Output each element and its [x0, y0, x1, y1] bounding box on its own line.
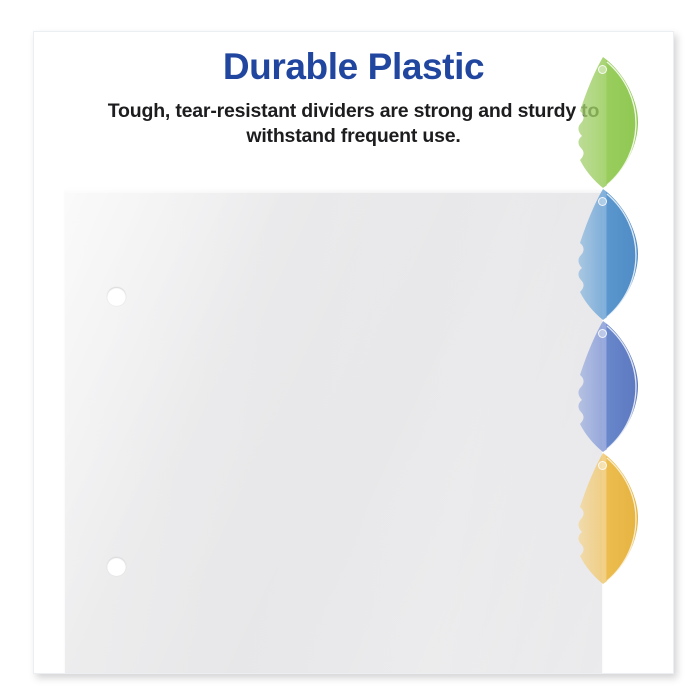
- divider-sheet: [65, 188, 602, 673]
- blue-tab[interactable]: [566, 188, 640, 321]
- top-punch-hole: [107, 287, 126, 306]
- bottom-punch-hole: [107, 557, 126, 576]
- gold-tab-hole: [598, 461, 607, 470]
- gold-tab-shape: [566, 452, 640, 585]
- sheet-gloss-highlight: [65, 188, 602, 673]
- navy-tab-shape: [566, 320, 640, 453]
- gold-tab[interactable]: [566, 452, 640, 585]
- screenshot-stage: Durable Plastic Tough, tear-resistant di…: [0, 0, 700, 700]
- subtitle-text: Tough, tear-resistant dividers are stron…: [66, 99, 641, 151]
- navy-tab[interactable]: [566, 320, 640, 453]
- navy-tab-hole: [598, 329, 607, 338]
- sheet-top-edge: [65, 188, 602, 193]
- blue-tab-hole: [598, 197, 607, 206]
- green-tab[interactable]: [566, 56, 640, 189]
- blue-tab-shape: [566, 188, 640, 321]
- green-tab-hole: [598, 65, 607, 74]
- green-tab-shape: [566, 56, 640, 189]
- product-image-card: Durable Plastic Tough, tear-resistant di…: [33, 31, 674, 674]
